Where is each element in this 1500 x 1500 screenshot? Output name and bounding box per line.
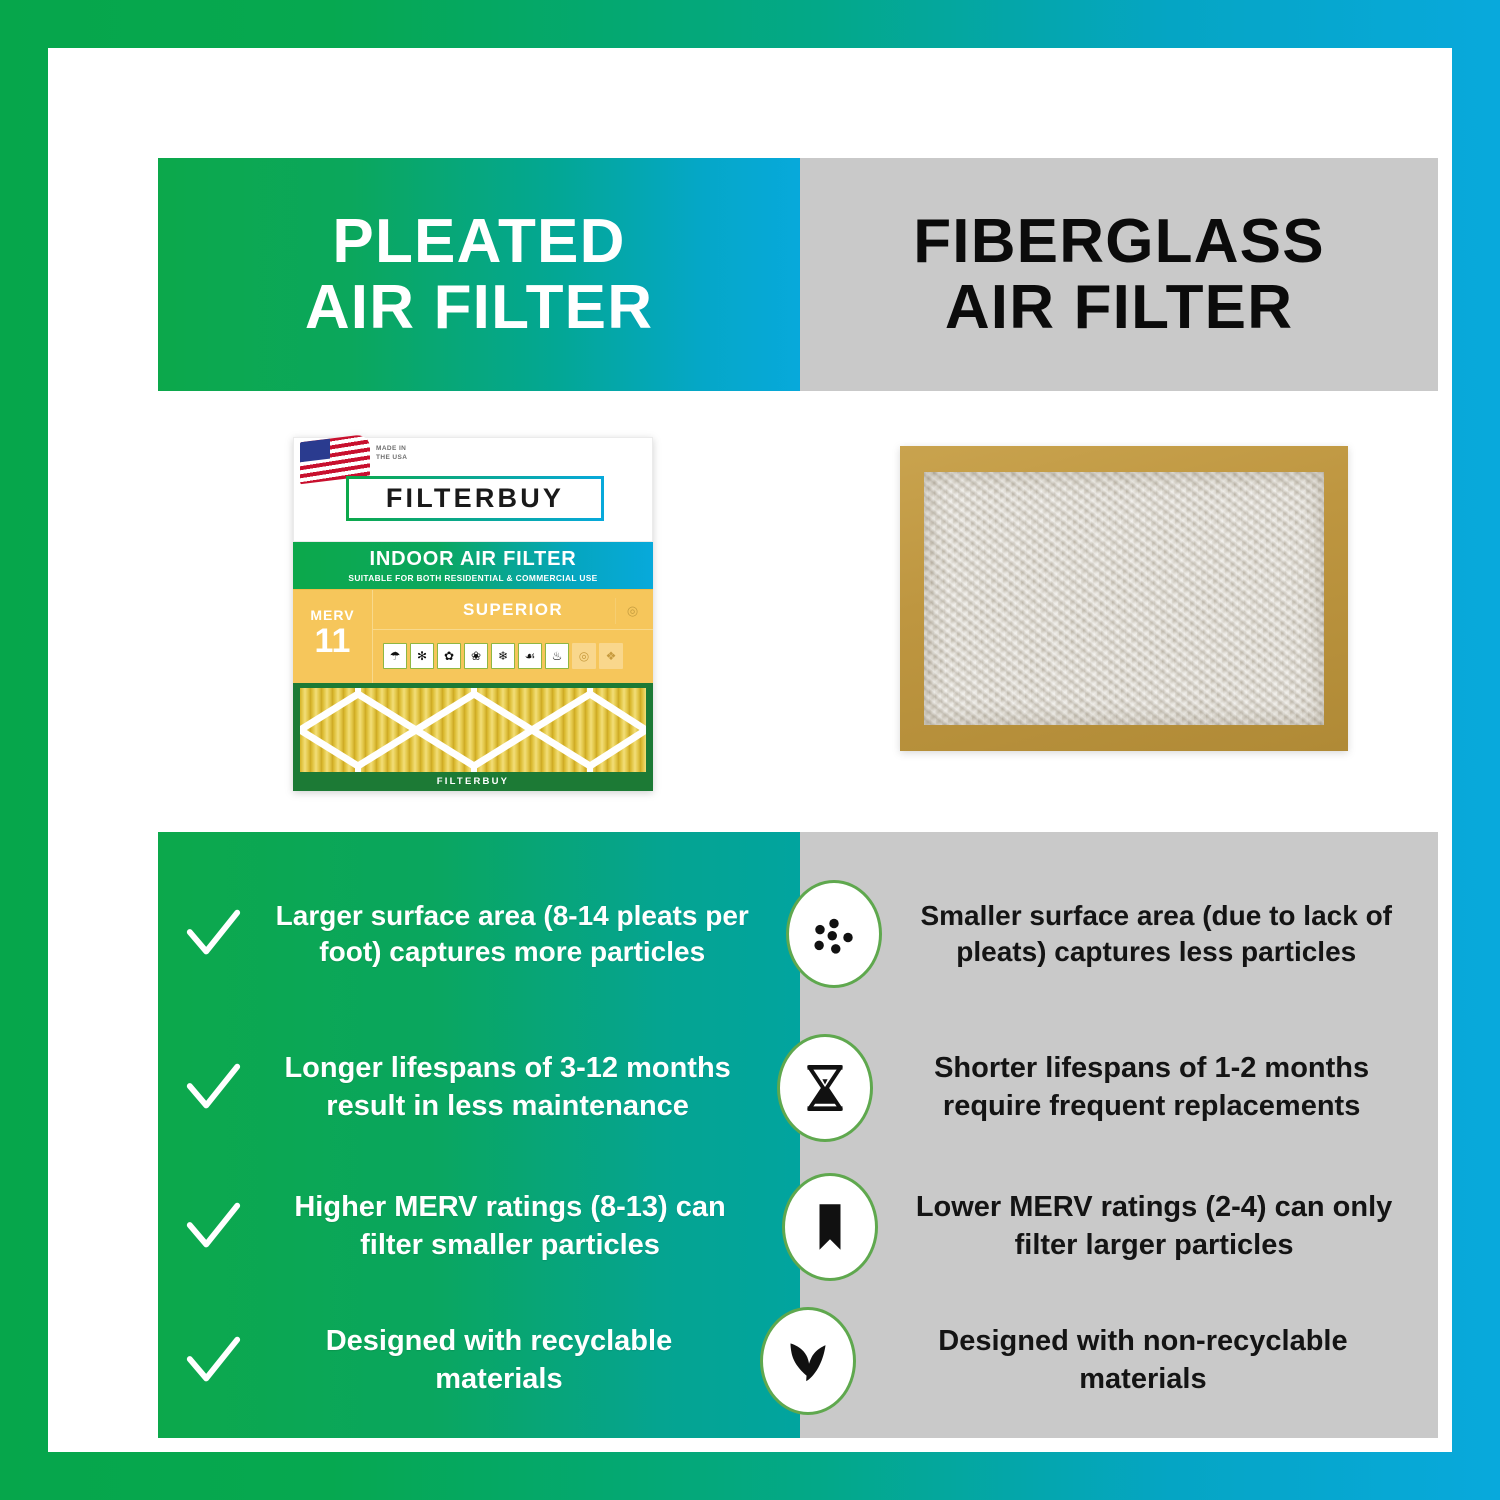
tier-label: SUPERIOR: [463, 600, 563, 620]
header-pleated-line2: AIR FILTER: [305, 273, 653, 342]
row-text-pleated: Designed with recyclable materials: [268, 1323, 752, 1398]
row-text-fiberglass: Lower MERV ratings (2-4) can only filter…: [886, 1189, 1438, 1264]
voc-icon: ❖: [599, 643, 623, 669]
diamond-support-mesh: [300, 688, 646, 772]
checkmark-icon: [158, 1057, 268, 1119]
capture-icon-row: ☂ ✻ ✿ ❀ ❄ ☙ ♨ ◎ ❖: [377, 634, 649, 678]
pollen-icon: ✿: [437, 643, 461, 669]
checkmark-icon: [158, 1196, 268, 1258]
row-text-pleated: Longer lifespans of 3-12 months result i…: [268, 1050, 769, 1125]
ribbon-icon: [802, 1199, 858, 1255]
row-badge: [774, 1173, 886, 1281]
comparison-row: Higher MERV ratings (8-13) can filter sm…: [158, 1162, 1438, 1292]
row-badge: [778, 880, 890, 988]
merv-rating-box: MERV 11: [293, 590, 373, 684]
header-pleated-line1: PLEATED: [332, 207, 625, 276]
header-bar: PLEATED AIR FILTER FIBERGLASS AIR FILTER: [158, 158, 1438, 391]
badge-circle: [782, 1173, 878, 1281]
dust-mite-icon: ✻: [410, 643, 434, 669]
made-in-line1: MADE IN: [376, 445, 407, 454]
header-fiberglass-title: FIBERGLASS AIR FILTER: [913, 209, 1325, 340]
row-badge: [769, 1034, 881, 1142]
comparison-row: Longer lifespans of 3-12 months result i…: [158, 1018, 1438, 1158]
package-indoor-band: INDOOR AIR FILTER SUITABLE FOR BOTH RESI…: [293, 542, 653, 589]
row-badge: [752, 1307, 864, 1415]
package-top-panel: MADE IN THE USA FILTERBUY: [293, 437, 653, 542]
package-merv-panel: MERV 11 SUPERIOR ◎ ☂ ✻ ✿ ❀ ❄ ☙ ♨: [293, 589, 653, 683]
row-text-fiberglass: Smaller surface area (due to lack of ple…: [890, 898, 1438, 971]
row-text-pleated: Higher MERV ratings (8-13) can filter sm…: [268, 1189, 774, 1264]
mold-icon: ❀: [464, 643, 488, 669]
merv-label: MERV: [293, 607, 372, 623]
comparison-row: Designed with recyclable materials Desig…: [158, 1296, 1438, 1426]
made-in-usa-label: MADE IN THE USA: [376, 445, 407, 463]
product-image-strip: MADE IN THE USA FILTERBUY INDOOR AIR FIL…: [158, 391, 1438, 832]
merv-value: 11: [293, 625, 372, 657]
particles-icon: [806, 906, 862, 962]
inner-white-frame: PLEATED AIR FILTER FIBERGLASS AIR FILTER…: [48, 48, 1452, 1452]
indoor-air-filter-title: INDOOR AIR FILTER: [293, 548, 653, 571]
row-text-fiberglass: Shorter lifespans of 1-2 months require …: [881, 1050, 1438, 1125]
badge-circle: [760, 1307, 856, 1415]
row-text-fiberglass: Designed with non-recyclable materials: [864, 1323, 1438, 1398]
pleated-filter-product-image: MADE IN THE USA FILTERBUY INDOOR AIR FIL…: [293, 415, 653, 791]
badge-circle: [786, 880, 882, 988]
infographic-stage: PLEATED AIR FILTER FIBERGLASS AIR FILTER…: [158, 158, 1438, 1438]
fiberglass-media-texture: [924, 472, 1324, 725]
indoor-air-filter-subtitle: SUITABLE FOR BOTH RESIDENTIAL & COMMERCI…: [293, 573, 653, 583]
pleated-media-area: FILTERBUY: [293, 683, 653, 791]
made-in-line2: THE USA: [376, 454, 407, 463]
header-pleated-title: PLEATED AIR FILTER: [305, 209, 653, 340]
odor-icon: ◎: [572, 643, 596, 669]
badge-circle: [777, 1034, 873, 1142]
hourglass-icon: [797, 1060, 853, 1116]
bacteria-icon: ❄: [491, 643, 515, 669]
header-fiberglass-line1: FIBERGLASS: [913, 207, 1325, 276]
fiberglass-filter-product-image: [900, 446, 1348, 751]
smoke-icon: ♨: [545, 643, 569, 669]
checkmark-icon: [158, 1330, 268, 1392]
comparison-row: Larger surface area (8-14 pleats per foo…: [158, 854, 1438, 1014]
package-footer-brand: FILTERBUY: [293, 773, 653, 790]
ul-seal-icon: ◎: [615, 598, 649, 624]
pet-dander-icon: ☙: [518, 643, 542, 669]
row-text-pleated: Larger surface area (8-14 pleats per foo…: [268, 898, 778, 971]
header-fiberglass-line2: AIR FILTER: [945, 273, 1293, 342]
leaf-eco-icon: [780, 1333, 836, 1389]
dust-icon: ☂: [383, 643, 407, 669]
filterbuy-logo: FILTERBUY: [346, 476, 604, 521]
filterbuy-wordmark: FILTERBUY: [386, 483, 564, 514]
tier-row: SUPERIOR: [373, 590, 653, 630]
comparison-rows: Larger surface area (8-14 pleats per foo…: [158, 832, 1438, 1438]
header-fiberglass: FIBERGLASS AIR FILTER: [800, 158, 1438, 391]
header-pleated: PLEATED AIR FILTER: [158, 158, 800, 391]
checkmark-icon: [158, 903, 268, 965]
